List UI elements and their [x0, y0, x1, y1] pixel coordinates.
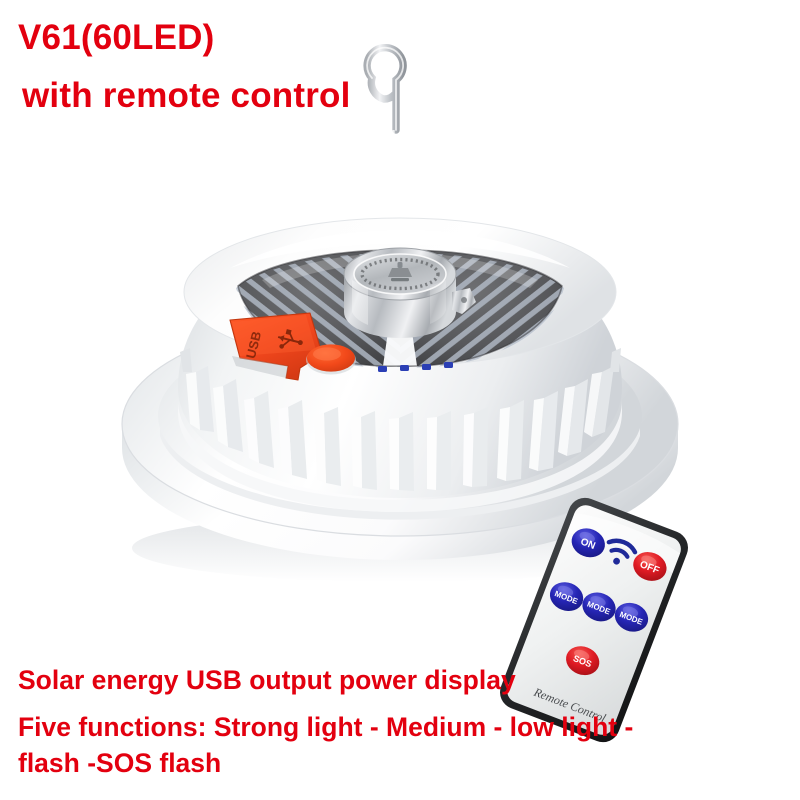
feature-text-line-3: flash -SOS flash [18, 748, 221, 779]
feature-text-line-2: Five functions: Strong light - Medium - … [18, 712, 633, 743]
power-button [306, 344, 356, 374]
feature-text-line-1: Solar energy USB output power display [18, 665, 516, 696]
page-title-line-2: with remote control [22, 76, 351, 116]
page-title-line-1: V61(60LED) [18, 18, 215, 58]
product-image-canvas: USB [0, 0, 800, 800]
